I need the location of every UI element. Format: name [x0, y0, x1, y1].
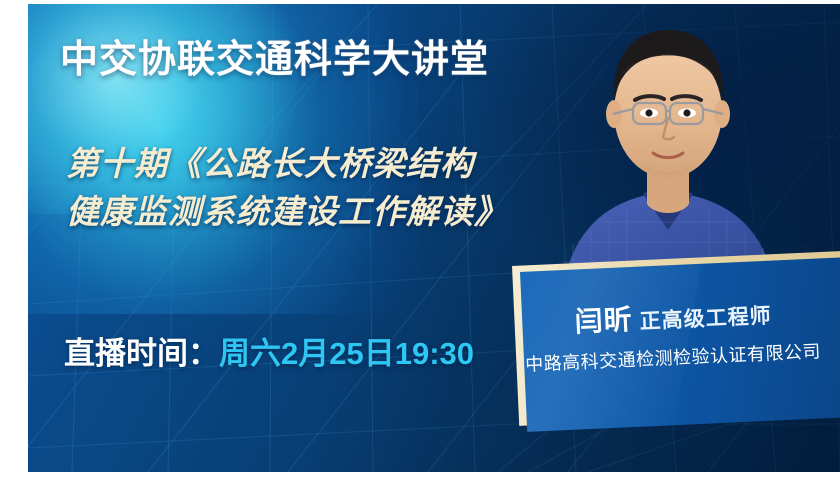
- subtitle-line-1: 第十期《公路长大桥梁结构: [66, 140, 508, 188]
- frame-left: [0, 0, 28, 480]
- frame-bottom: [0, 472, 840, 480]
- airtime: 直播时间：周六2月25日19:30: [64, 328, 474, 373]
- webinar-poster: 中交协联交通科学大讲堂 第十期《公路长大桥梁结构 健康监测系统建设工作解读》 直…: [0, 0, 840, 480]
- airtime-label: 直播时间：: [64, 336, 219, 371]
- poster-artwork: 中交协联交通科学大讲堂 第十期《公路长大桥梁结构 健康监测系统建设工作解读》 直…: [28, 4, 840, 472]
- frame-top: [0, 0, 840, 4]
- airtime-value: 周六2月25日19:30: [219, 336, 474, 371]
- speaker-title: 正高级工程师: [639, 305, 772, 334]
- page-title: 中交协联交通科学大讲堂: [60, 28, 489, 83]
- speaker-name: 闫昕: [574, 304, 633, 338]
- episode-subtitle: 第十期《公路长大桥梁结构 健康监测系统建设工作解读》: [66, 140, 508, 236]
- subtitle-line-2: 健康监测系统建设工作解读》: [66, 188, 508, 236]
